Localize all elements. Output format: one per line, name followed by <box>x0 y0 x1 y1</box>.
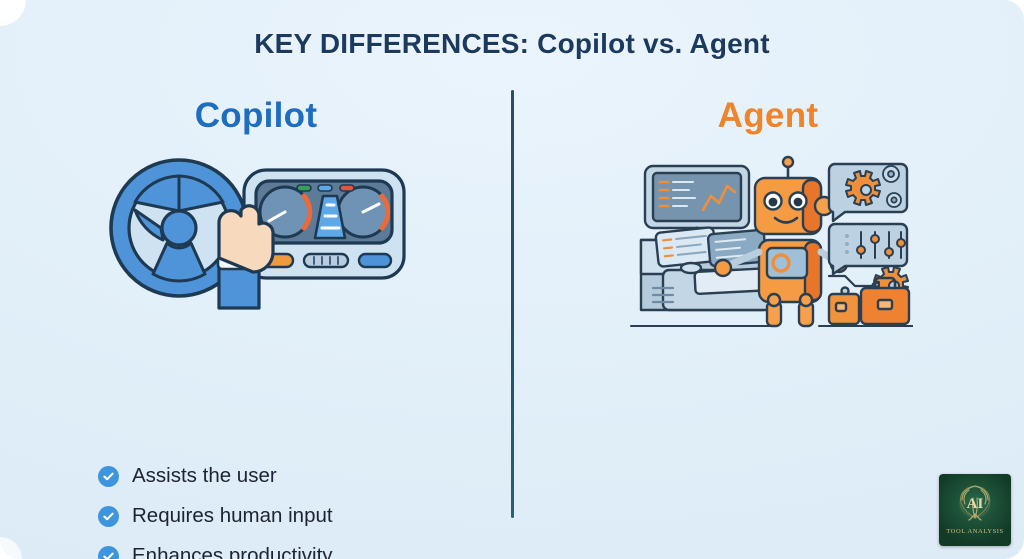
list-item: Requires human input <box>98 496 333 536</box>
infographic-canvas: KEY DIFFERENCES: Copilot vs. Agent Copil… <box>0 0 1024 559</box>
list-item-label: Assists the user <box>132 466 277 487</box>
logo-caption: TOOL ANALYSIS <box>939 528 1011 535</box>
corner-mask-top-left <box>0 0 26 26</box>
brand-logo-badge: AI TOOL ANALYSIS <box>939 474 1011 546</box>
list-item: Enhances productivity <box>98 536 333 559</box>
illustration-robot-workstation <box>518 148 1018 338</box>
list-item: Assists the user <box>98 456 333 496</box>
corner-mask-bottom-left <box>0 537 22 559</box>
column-copilot: Copilot <box>6 96 506 338</box>
tree-logo-icon: AI <box>939 474 1011 534</box>
logo-monogram: AI <box>967 496 984 512</box>
list-item-label: Enhances productivity <box>132 546 333 559</box>
check-circle-icon <box>98 546 119 559</box>
illustration-steering-wheel <box>6 148 506 338</box>
list-item-label: Requires human input <box>132 506 333 527</box>
column-heading-copilot: Copilot <box>6 96 506 136</box>
bullet-list-copilot: Assists the user Requires human input En… <box>98 456 333 559</box>
column-heading-agent: Agent <box>518 96 1018 136</box>
column-agent: Agent <box>518 96 1018 338</box>
check-circle-icon <box>98 466 119 487</box>
column-divider <box>511 90 514 518</box>
check-circle-icon <box>98 506 119 527</box>
page-title: KEY DIFFERENCES: Copilot vs. Agent <box>0 28 1024 60</box>
